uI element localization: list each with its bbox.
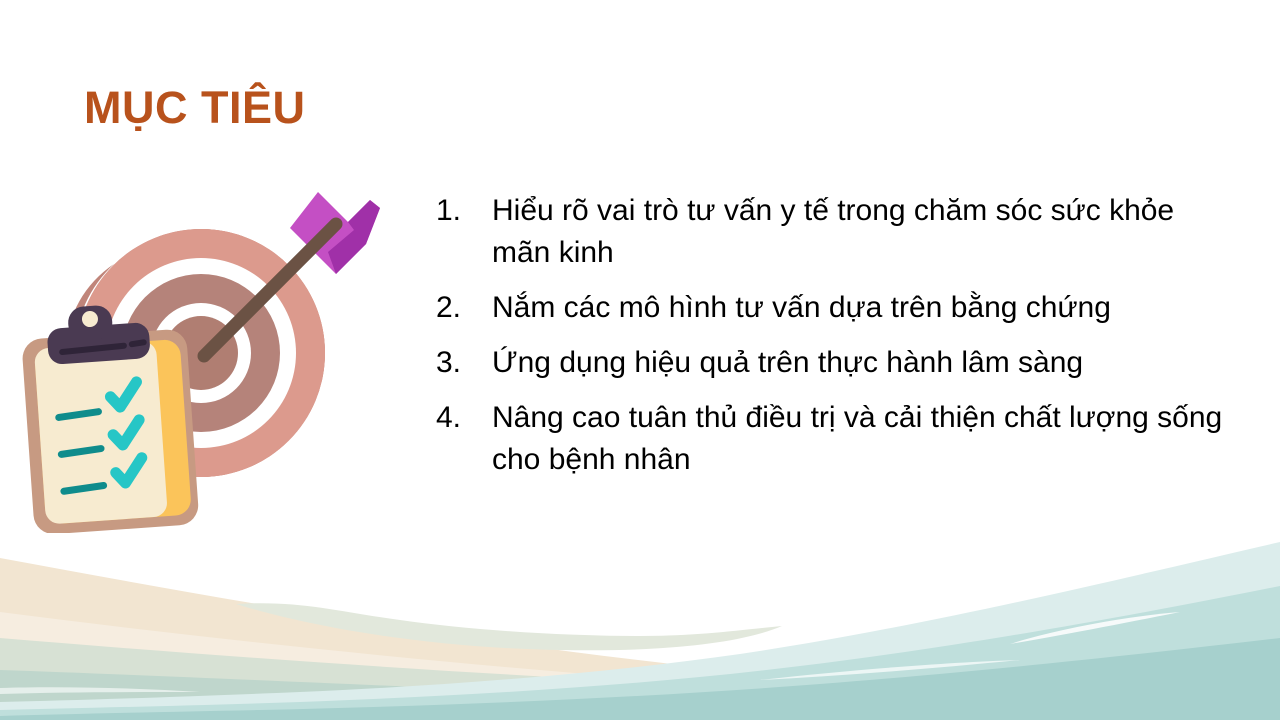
list-item: 3. Ứng dụng hiệu quả trên thực hành lâm …	[436, 342, 1236, 384]
clipboard-icon	[19, 299, 199, 533]
list-item-label: Ứng dụng hiệu quả trên thực hành lâm sàn…	[492, 342, 1236, 384]
list-item-number: 1.	[436, 190, 492, 232]
list-item-label: Nắm các mô hình tư vấn dựa trên bằng chứ…	[492, 287, 1236, 329]
list-item-number: 3.	[436, 342, 492, 384]
target-illustration	[18, 178, 388, 533]
list-item-label: Nâng cao tuân thủ điều trị và cải thiện …	[492, 397, 1236, 481]
slide-canvas: MỤC TIÊU	[0, 0, 1280, 720]
list-item-number: 4.	[436, 397, 492, 439]
wave-band-icon	[0, 520, 1280, 720]
list-item: 2. Nắm các mô hình tư vấn dựa trên bằng …	[436, 287, 1236, 329]
list-item: 4. Nâng cao tuân thủ điều trị và cải thi…	[436, 397, 1236, 481]
list-item: 1. Hiểu rõ vai trò tư vấn y tế trong chă…	[436, 190, 1236, 274]
objectives-list: 1. Hiểu rõ vai trò tư vấn y tế trong chă…	[436, 190, 1236, 494]
bottom-wave-decoration	[0, 520, 1280, 720]
page-title: MỤC TIÊU	[84, 84, 306, 131]
list-item-number: 2.	[436, 287, 492, 329]
list-item-label: Hiểu rõ vai trò tư vấn y tế trong chăm s…	[492, 190, 1236, 274]
target-with-arrow-and-clipboard-icon	[18, 178, 388, 533]
